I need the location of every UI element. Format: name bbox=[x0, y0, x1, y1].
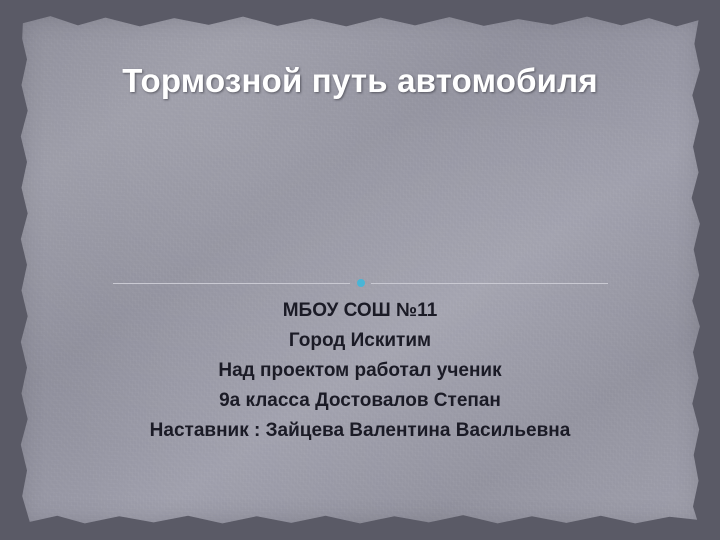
subtitle-line: Город Искитим bbox=[60, 326, 660, 356]
slide-title: Тормозной путь автомобиля bbox=[50, 62, 670, 100]
subtitle-line: МБОУ СОШ №11 bbox=[60, 296, 660, 326]
subtitle-line: 9а класса Достовалов Степан bbox=[60, 386, 660, 416]
divider-rule-right bbox=[371, 283, 608, 284]
subtitle-line: Над проектом работал ученик bbox=[60, 356, 660, 386]
presentation-slide: Тормозной путь автомобиля МБОУ СОШ №11 Г… bbox=[0, 0, 720, 540]
decorative-divider bbox=[113, 278, 608, 288]
slide-subtitle-block: МБОУ СОШ №11 Город Искитим Над проектом … bbox=[60, 296, 660, 446]
divider-dot-icon bbox=[357, 279, 365, 287]
divider-rule-left bbox=[113, 283, 350, 284]
subtitle-line: Наставник : Зайцева Валентина Васильевна bbox=[60, 416, 660, 446]
